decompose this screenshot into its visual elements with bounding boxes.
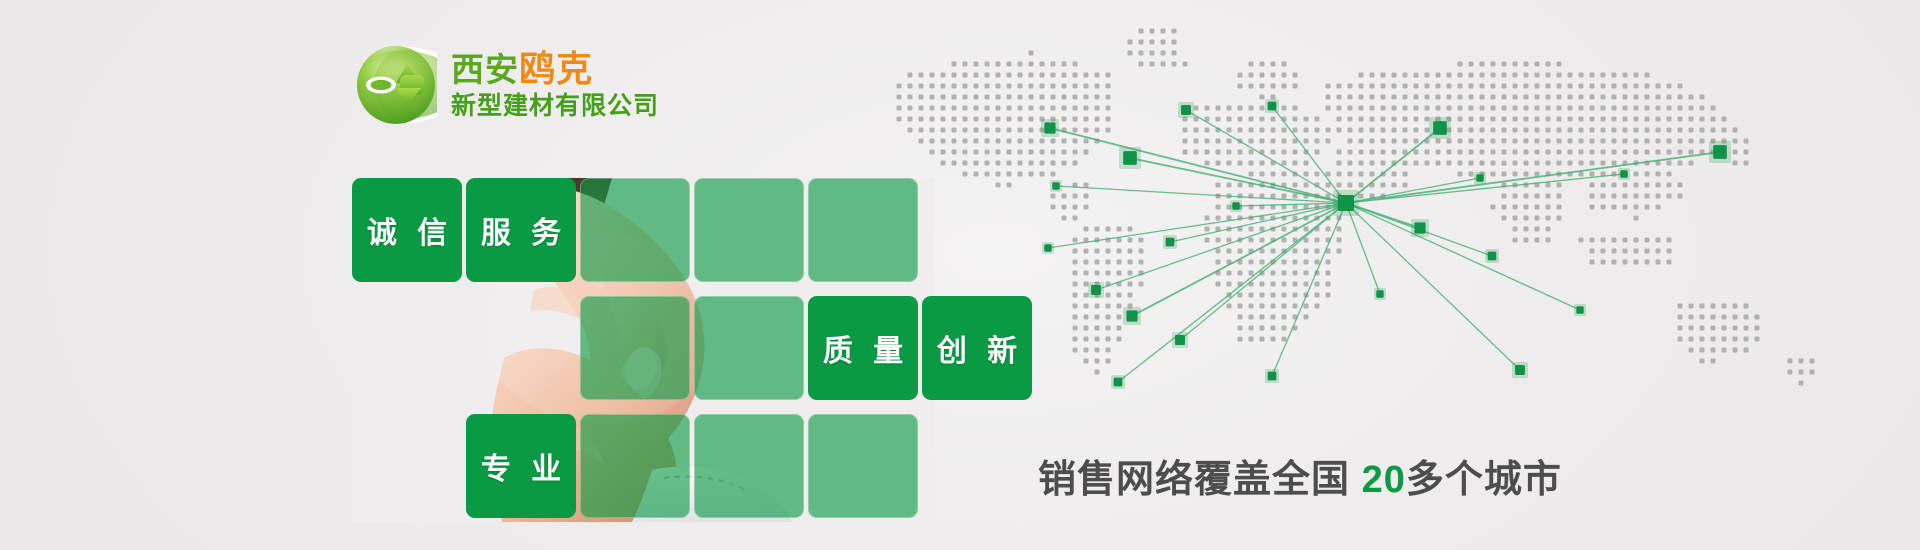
mosaic-tile-r1c4 <box>694 178 804 282</box>
value-tile-integrity[interactable]: 诚 信 <box>352 178 462 282</box>
logo-company-name-line1: 西安鸥克 <box>451 51 659 87</box>
tagline-prefix: 销售网络覆盖全国 <box>1038 459 1350 501</box>
value-tile-service-label: 服 务 <box>466 208 576 252</box>
logo-city-text: 西安 <box>451 51 519 88</box>
handshake-tile-mosaic: 诚 信 服 务 质 量 专 业 <box>352 178 934 522</box>
mosaic-tile-r3c3 <box>580 414 690 518</box>
company-logo[interactable]: 西安鸥克 新型建材有限公司 <box>355 44 659 126</box>
mosaic-tile-r3c4 <box>694 414 804 518</box>
value-tile-quality-label: 质 量 <box>808 326 918 370</box>
mosaic-tile-r3c5 <box>808 414 918 518</box>
value-tile-innovation-label: 创 新 <box>922 326 1032 370</box>
mosaic-tile-r2c4 <box>694 296 804 400</box>
value-tile-innovation[interactable]: 创 新 <box>922 296 1032 400</box>
mosaic-tile-r1c3 <box>580 178 690 282</box>
value-tile-professional-label: 专 业 <box>466 444 576 488</box>
value-tile-integrity-label: 诚 信 <box>352 208 462 252</box>
value-tile-service[interactable]: 服 务 <box>466 178 576 282</box>
logo-wordmark: 西安鸥克 新型建材有限公司 <box>451 51 659 119</box>
tagline-suffix: 多个城市 <box>1406 459 1562 501</box>
mosaic-tile-r1c5 <box>808 178 918 282</box>
tagline-highlight-number: 20 <box>1362 459 1406 501</box>
value-tile-professional[interactable]: 专 业 <box>466 414 576 518</box>
dotted-world-map <box>880 10 1890 470</box>
value-tile-quality[interactable]: 质 量 <box>808 296 918 400</box>
logo-brand-text: 鸥克 <box>519 48 593 89</box>
mosaic-tile-r2c3 <box>580 296 690 400</box>
promo-banner: 西安鸥克 新型建材有限公司 <box>0 0 1920 550</box>
sales-network-tagline: 销售网络覆盖全国 20多个城市 <box>1038 448 1562 503</box>
logo-company-name-line2: 新型建材有限公司 <box>451 94 659 119</box>
company-globe-logo-icon <box>355 44 437 126</box>
